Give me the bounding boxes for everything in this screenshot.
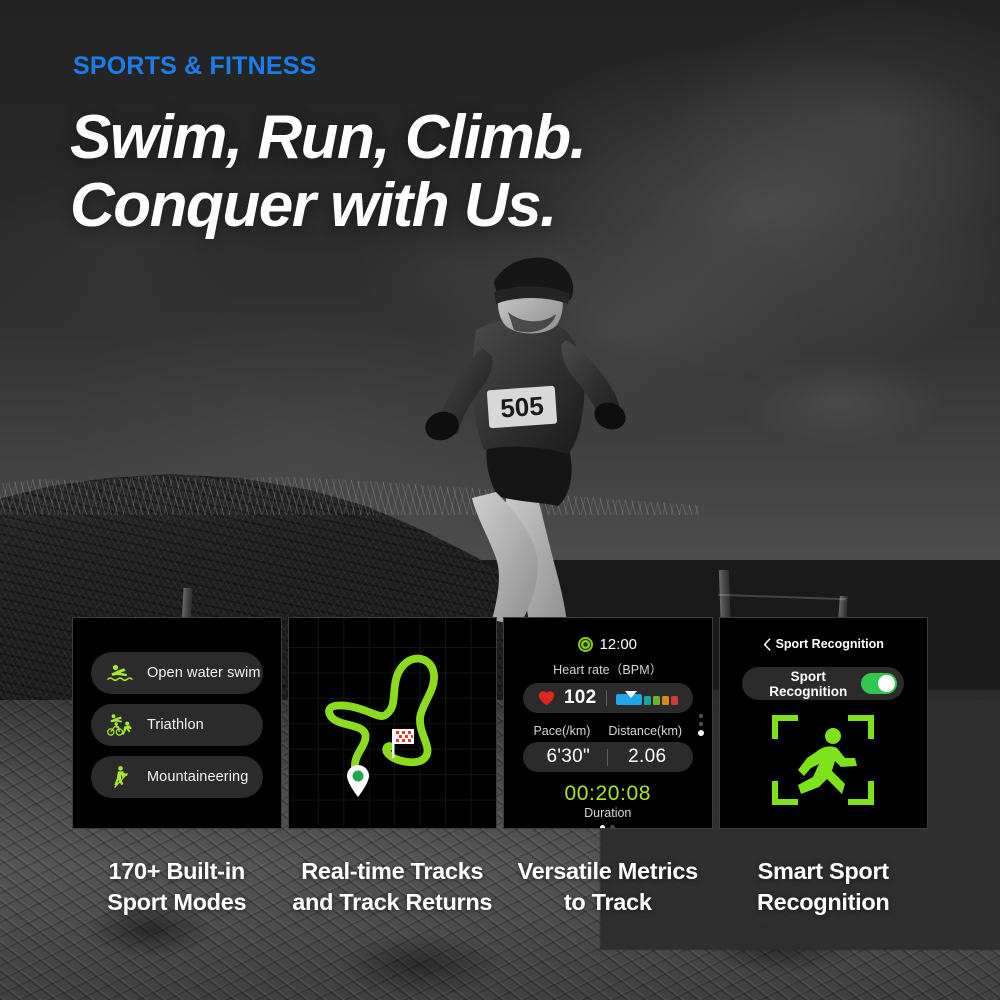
open-water-swim-icon [107,661,133,685]
divider [606,690,607,706]
screen-header: Sport Recognition [720,637,928,651]
caption-sport-recognition: Smart Sport Recognition [719,856,929,918]
distance-value: 2.06 [608,746,686,768]
scroll-dot [699,714,703,718]
watch-metrics-screen: 12:00 Heart rate（BPM） 102 [504,618,712,828]
caption-line-2: Recognition [757,889,889,915]
caption-sport-modes: 170+ Built-in Sport Modes [72,856,282,918]
page-indicator [504,825,712,829]
card-versatile-metrics: 12:00 Heart rate（BPM） 102 [503,617,713,829]
heart-rate-zone-bar [616,692,678,705]
svg-text:505: 505 [499,391,544,424]
page-title: Swim, Run, Climb. Conquer with Us. [70,104,585,240]
setting-label: Sport Recognition [755,669,861,699]
scrollbar[interactable] [698,714,704,736]
caption-line-1: Versatile Metrics [518,858,698,884]
sport-mode-label: Mountaineering [147,769,248,785]
sport-recognition-setting-row[interactable]: Sport Recognition [742,667,904,700]
pace-value: 6'30" [529,746,607,768]
card-sport-recognition: Sport Recognition Sport Recognition [719,617,929,829]
zone-4-bar [662,696,669,705]
scroll-dot [699,722,703,726]
checkered-flag-icon [389,726,419,760]
runner-photo-subject: 505 [380,240,680,630]
sport-mode-label: Open water swim [147,665,261,681]
distance-label: Distance(km) [608,724,682,738]
gps-signal-icon [578,637,593,652]
heart-rate-value: 102 [564,687,597,709]
list-item[interactable]: Open water swim [91,652,263,694]
sport-mode-label: Triathlon [147,717,204,733]
toggle-knob [878,675,895,692]
feature-card-row: Open water swim [72,617,928,829]
sport-mode-list: Open water swim [73,618,281,798]
pace-label: Pace(/km) [533,724,590,738]
running-person-scan-icon [771,714,875,806]
status-bar: 12:00 [504,636,712,653]
sport-recognition-screen: Sport Recognition Sport Recognition [720,618,928,828]
triathlon-icon [107,713,133,737]
duration-label: Duration [504,806,712,820]
caption-line-2: and Track Returns [292,889,492,915]
caption-line-1: Real-time Tracks [301,858,483,884]
mountaineering-icon [107,765,133,789]
caption-row: 170+ Built-in Sport Modes Real-time Trac… [72,856,928,918]
page-dot-active[interactable] [600,825,605,829]
clock-time: 12:00 [599,636,637,653]
page-dot[interactable] [610,825,615,829]
pace-distance-labels: Pace(/km) Distance(km) [504,724,712,738]
heart-rate-pill[interactable]: 102 [523,683,693,713]
caption-line-2: Sport Modes [107,889,246,915]
list-item[interactable]: Mountaineering [91,756,263,798]
caption-realtime-track: Real-time Tracks and Track Returns [288,856,498,918]
fence-wire [718,594,846,600]
list-item[interactable]: Triathlon [91,704,263,746]
caption-line-2: to Track [564,889,652,915]
duration-value: 00:20:08 [504,782,712,806]
chevron-left-icon[interactable] [763,638,771,651]
headline-line-2: Conquer with Us. [70,172,585,240]
card-realtime-track [288,617,498,829]
caption-line-1: Smart Sport [758,858,889,884]
pace-distance-pill[interactable]: 6'30" 2.06 [523,742,693,772]
gps-track-map [289,618,497,828]
zone-marker-icon [625,691,637,698]
zone-2-bar [644,696,651,705]
zone-3-bar [653,696,660,705]
eyebrow-label: SPORTS & FITNESS [73,52,317,81]
headline-line-1: Swim, Run, Climb. [70,103,585,172]
heart-icon [538,690,555,706]
location-pin-icon [345,764,371,798]
scroll-thumb [698,730,704,736]
sport-recognition-toggle[interactable] [861,673,897,694]
zone-5-bar [671,696,678,705]
route-polyline [289,618,497,828]
caption-versatile-metrics: Versatile Metrics to Track [503,856,713,918]
heart-rate-label: Heart rate（BPM） [504,659,712,678]
card-sport-modes: Open water swim [72,617,282,829]
marketing-banner: 505 SPORTS & FITNESS Swim, R [0,0,1000,1000]
caption-line-1: 170+ Built-in [109,858,245,884]
screen-title: Sport Recognition [776,637,884,651]
